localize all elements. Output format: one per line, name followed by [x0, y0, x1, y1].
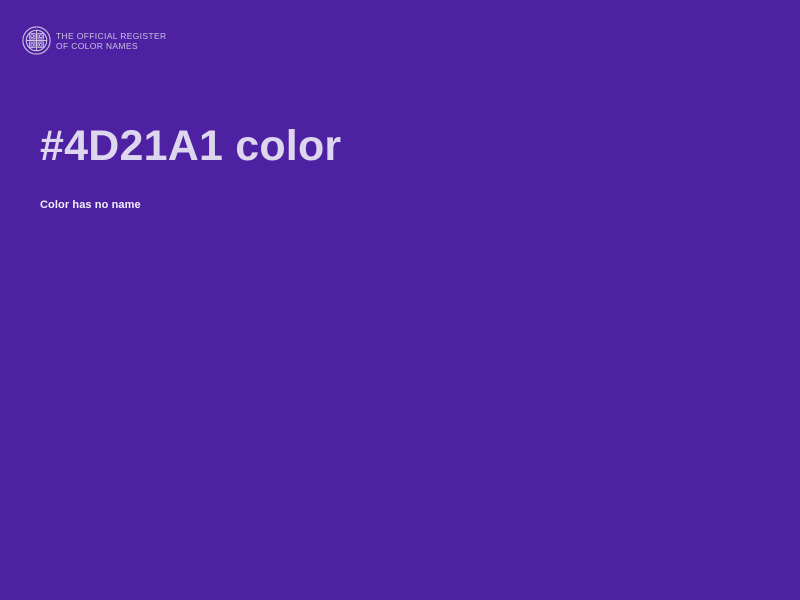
page-title: #4D21A1 color [40, 120, 740, 172]
color-name-status: Color has no name [40, 198, 740, 212]
color-info-block: #4D21A1 color Color has no name [40, 120, 740, 212]
brand-line-1: THE OFFICIAL REGISTER [56, 31, 166, 42]
register-seal-icon [22, 26, 51, 55]
site-header[interactable]: THE OFFICIAL REGISTER OF COLOR NAMES [22, 26, 166, 55]
brand-wordmark: THE OFFICIAL REGISTER OF COLOR NAMES [56, 30, 166, 52]
brand-line-2: OF COLOR NAMES [56, 41, 166, 52]
color-page: THE OFFICIAL REGISTER OF COLOR NAMES #4D… [0, 0, 800, 600]
